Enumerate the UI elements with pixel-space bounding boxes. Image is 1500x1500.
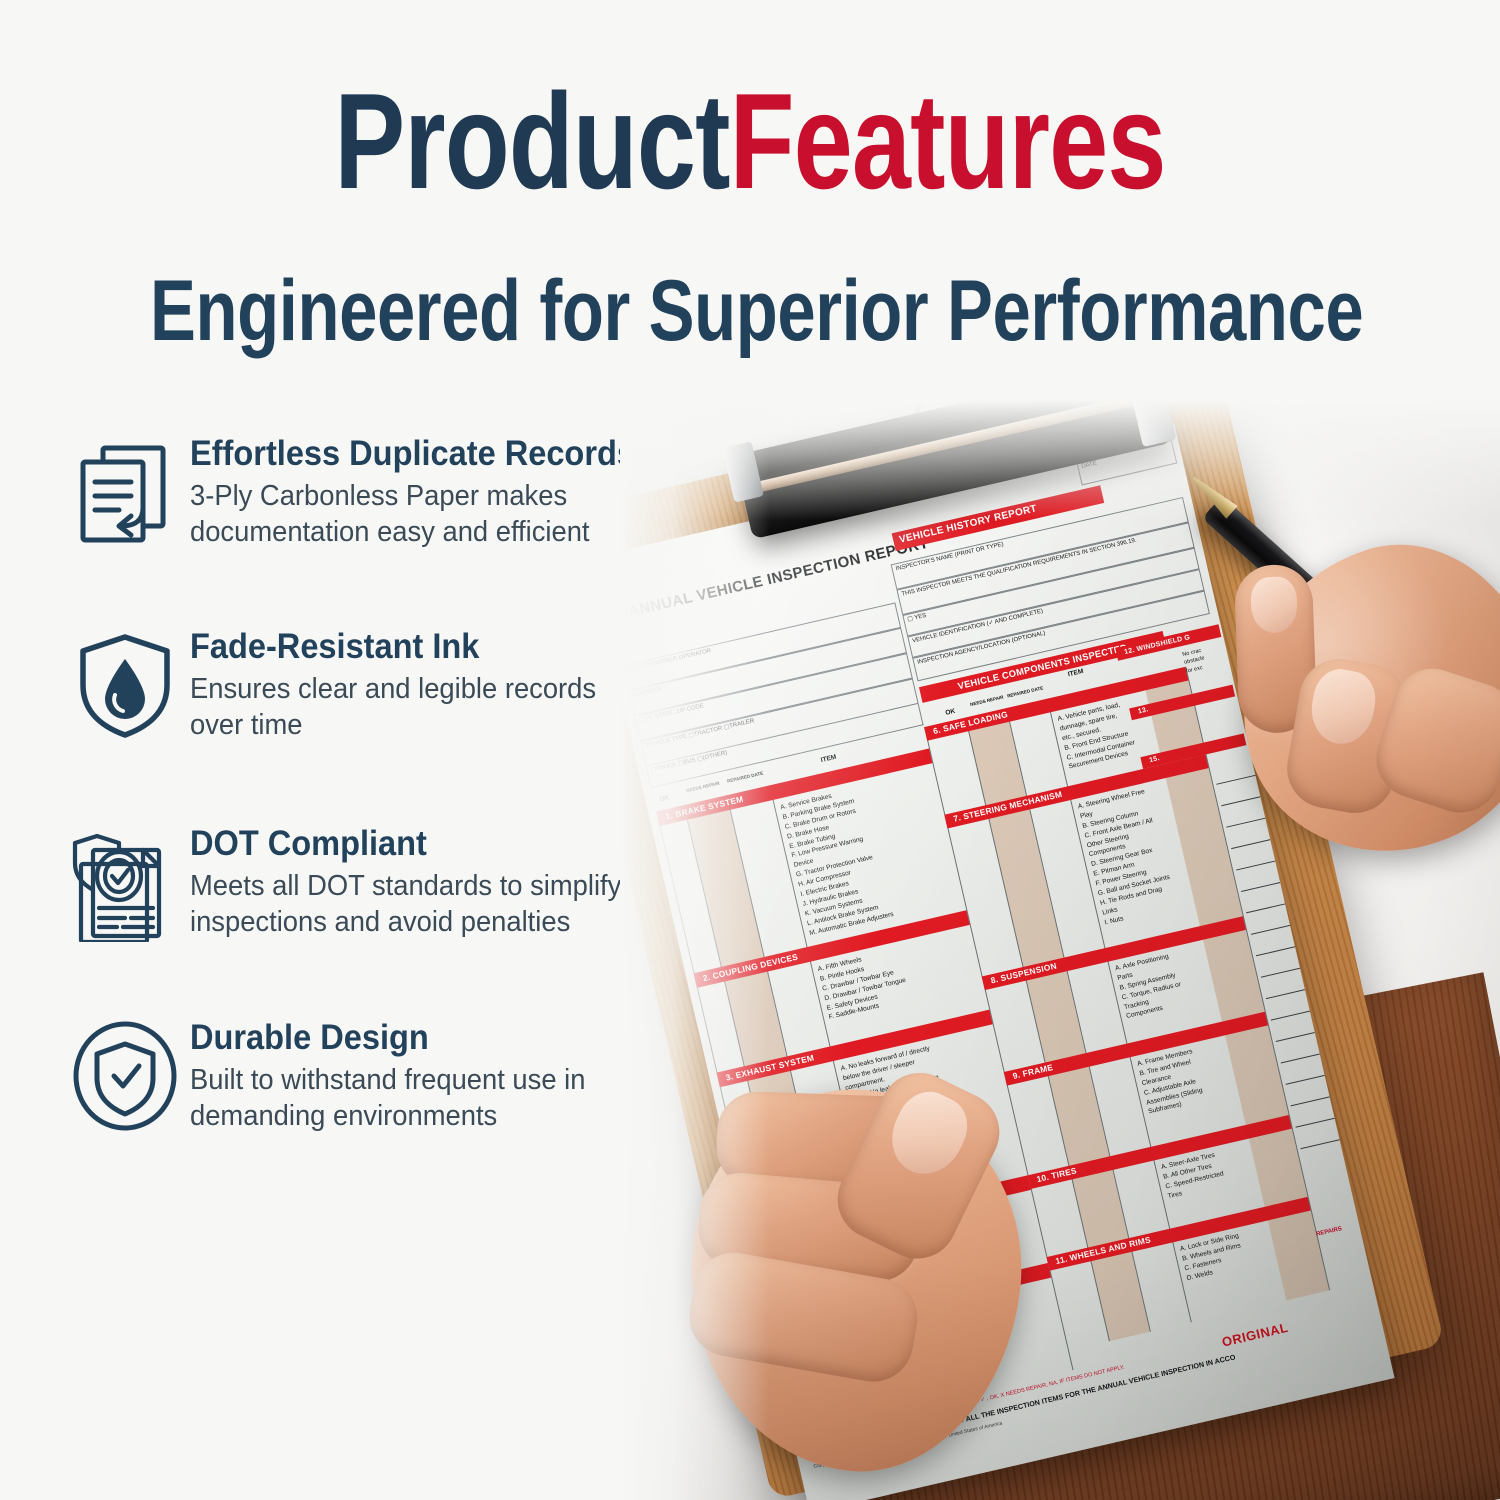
page-title: ProductFeatures [0,72,1500,211]
feature-desc-line-2: inspections and avoid penalties [190,904,621,940]
feature-title: DOT Compliant [190,824,608,864]
feature-desc-line-1: Ensures clear and legible records [190,671,596,707]
feature-description: Meets all DOT standards to simplify insp… [190,868,621,941]
feature-desc-line-1: Built to withstand frequent use in [190,1062,585,1098]
feature-desc-line-2: demanding environments [190,1098,585,1134]
feature-text-block: Effortless Duplicate Records 3-Ply Carbo… [190,430,668,551]
col-header-ok: OK [659,794,670,803]
col-header-ok-right: OK [945,708,956,717]
fingernail [1250,576,1298,634]
section-items-7: A. Steering Wheel Free Play B. Steering … [1077,786,1178,928]
feature-desc-line-2: over time [190,707,596,743]
section-items-9: A. Frame Members B. Tire and Wheel Clear… [1136,1047,1205,1118]
subtitle-text: Engineered for Superior Performance [150,262,1350,361]
section-items-10: A. Steer-Axle Tires B. All Other Tires C… [1160,1150,1227,1202]
shield-ink-drop-icon [60,623,190,741]
feature-desc-line-1: 3-Ply Carbonless Paper makes [190,478,649,514]
section-items-12: No crac obstacle for exc [1182,647,1208,676]
repairs-label: REPAIRS [1316,1226,1343,1238]
feature-text-block: Fade-Resistant Ink Ensures clear and leg… [190,623,613,744]
thumbnail [1306,665,1380,749]
col-header-item: ITEM [820,754,837,765]
col-header-repaired-date: REPAIRED DATE [727,771,764,784]
feature-desc-line-2: documentation easy and efficient [190,514,649,550]
feature-title: Effortless Duplicate Records [190,434,635,474]
left-thumbnail [879,1082,978,1186]
circle-shield-check-icon [60,1014,190,1132]
feature-title: Fade-Resistant Ink [190,627,583,667]
feature-text-block: Durable Design Built to withstand freque… [190,1014,602,1135]
feature-desc-line-1: Meets all DOT standards to simplify [190,868,621,904]
headline-part-features: Features [730,65,1166,217]
col-header-repaired-date-right: REPAIRED DATE [1007,685,1044,698]
feature-description: Ensures clear and legible records over t… [190,671,596,744]
document-check-shield-icon [60,820,190,942]
col-header-needs-repair: NEEDS REPAIR [686,781,720,794]
headline: ProductFeatures [165,72,1335,211]
section-items-1: A. Service Brakes B. Parking Brake Syste… [780,784,895,938]
feature-description: Built to withstand frequent use in deman… [190,1062,585,1135]
section-items-8: A. Axle Positioning Parts B. Spring Asse… [1114,951,1186,1022]
product-photo: BUCK U.S. ANNUAL VEHICLE INSPECTION REPO… [620,400,1500,1500]
section-items-11: A. Lock or Side Ring B. Wheels and Rims … [1179,1231,1246,1283]
section-items-2: A. Fifth Wheels B. Pintle Hooks C. Drawb… [817,947,912,1024]
duplicate-documents-icon [60,430,190,548]
feature-title: Durable Design [190,1018,573,1058]
headline-part-product: Product [334,65,729,217]
col-header-item-right: ITEM [1067,668,1084,679]
feature-text-block: DOT Compliant Meets all DOT standards to… [190,820,639,941]
section-items-6: A. Vehicle parts, load, dunnage, spare t… [1057,699,1139,773]
col-header-needs-repair-right: NEEDS REPAIR [970,695,1004,708]
page-subtitle: Engineered for Superior Performance [0,262,1500,361]
feature-description: 3-Ply Carbonless Paper makes documentati… [190,478,649,551]
